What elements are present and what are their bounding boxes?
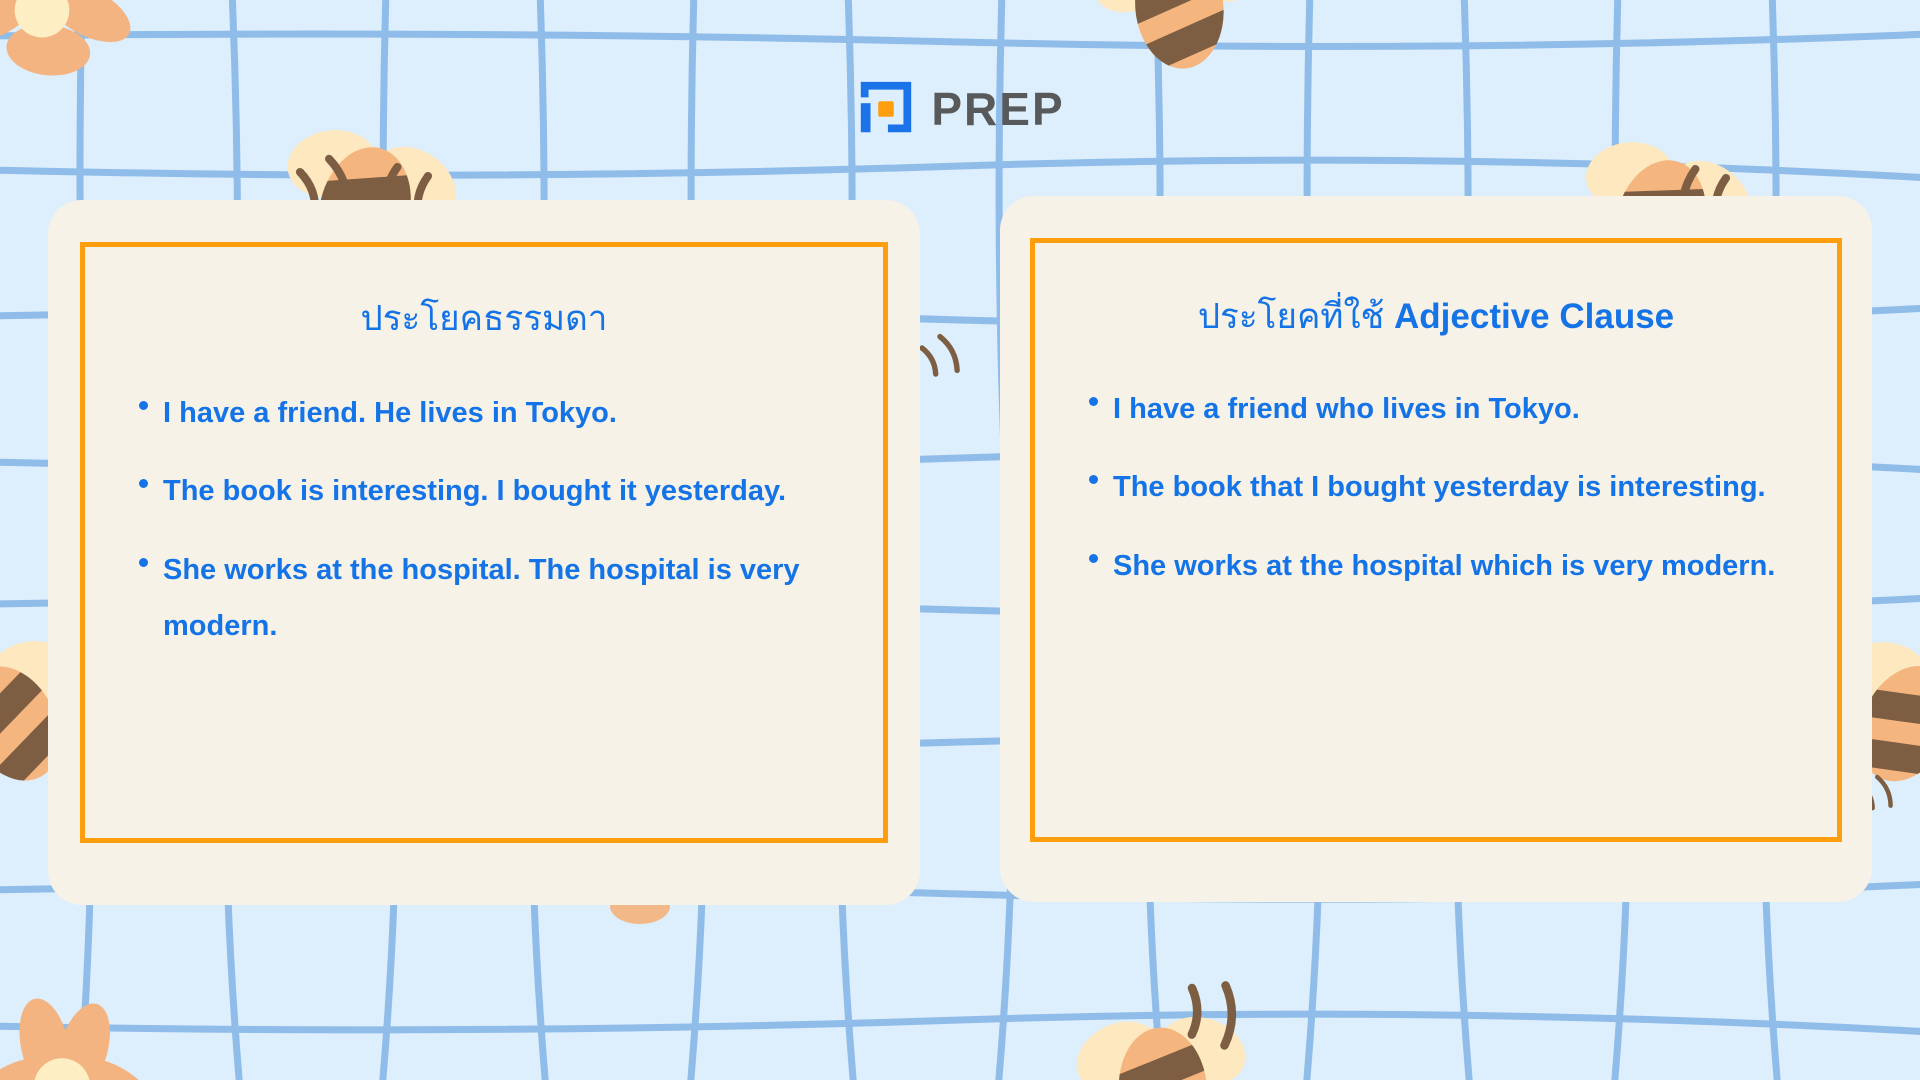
card-adjective-clause-heading: ประโยคที่ใช้ Adjective Clause [1035, 295, 1837, 339]
flower-top-left [0, 0, 140, 80]
card-plain-sentence-list: I have a friend. He lives in Tokyo. The … [133, 385, 845, 655]
bee-top-center [1076, 0, 1280, 82]
card-plain-sentence: ประโยคธรรมดา I have a friend. He lives i… [48, 200, 920, 905]
list-item: I have a friend. He lives in Tokyo. [133, 385, 845, 442]
list-item: She works at the hospital which is very … [1083, 538, 1791, 595]
prep-logo-mark [855, 78, 917, 140]
list-item: She works at the hospital. The hospital … [133, 542, 845, 655]
list-item-text: The book that I bought yesterday is inte… [1113, 471, 1766, 503]
card-adjective-clause: ประโยคที่ใช้ Adjective Clause I have a f… [1000, 196, 1872, 902]
list-item-text: The book is interesting. I bought it yes… [163, 475, 786, 507]
list-item-text: She works at the hospital. The hospital … [163, 554, 800, 643]
list-item: I have a friend who lives in Tokyo. [1083, 381, 1791, 438]
list-item-text: I have a friend. He lives in Tokyo. [163, 397, 617, 429]
bee-bottom-center [1062, 979, 1262, 1080]
list-item: The book that I bought yesterday is inte… [1083, 459, 1791, 516]
card-adjective-clause-border: ประโยคที่ใช้ Adjective Clause I have a f… [1030, 238, 1842, 842]
card-plain-sentence-heading: ประโยคธรรมดา [85, 297, 883, 341]
flower-bottom-left [0, 994, 163, 1080]
motion-doodle-center [920, 334, 958, 378]
card-plain-sentence-border: ประโยคธรรมดา I have a friend. He lives i… [80, 242, 888, 843]
list-item: The book is interesting. I bought it yes… [133, 463, 845, 520]
heading-thai-text: ประโยคที่ใช้ [1198, 297, 1394, 336]
heading-thai-text: ประโยคธรรมดา [361, 299, 608, 338]
list-item-text: She works at the hospital which is very … [1113, 550, 1775, 582]
list-item-text: I have a friend who lives in Tokyo. [1113, 393, 1580, 425]
heading-highlight-text: Adjective Clause [1394, 297, 1674, 336]
brand-logo[interactable]: PREP [0, 78, 1920, 140]
brand-wordmark: PREP [931, 86, 1064, 132]
card-adjective-clause-list: I have a friend who lives in Tokyo. The … [1083, 381, 1791, 595]
